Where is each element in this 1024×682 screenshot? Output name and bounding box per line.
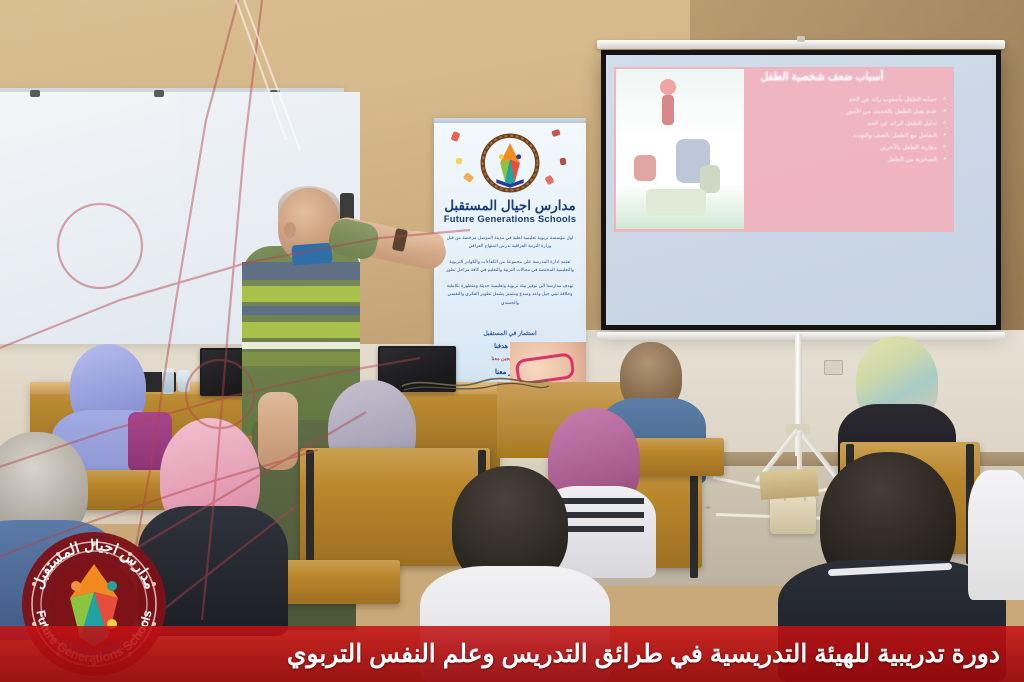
shirt-stripe <box>242 306 360 315</box>
banner-paragraph: تعتمد ادارة المدرسة على مجموعة من الكفاء… <box>442 258 578 275</box>
banner-title-arabic: مدارس اجيال المستقبل <box>434 198 586 214</box>
banner-logo-icon <box>479 132 541 194</box>
screen-frame: أسباب ضعف شخصية الطفل حماية الطفل بأسلوب… <box>601 50 1001 330</box>
presentation-slide: أسباب ضعف شخصية الطفل حماية الطفل بأسلوب… <box>614 67 954 232</box>
banner-title-english: Future Generations Schools <box>434 214 586 225</box>
presenter-pointing-hand <box>405 230 445 258</box>
projection-screen: أسباب ضعف شخصية الطفل حماية الطفل بأسلوب… <box>601 46 1001 336</box>
banner-slogan: استثمار في المستقبل <box>434 330 586 337</box>
presenter-left-arm <box>258 392 298 470</box>
presenter-ear <box>284 222 296 238</box>
shirt-stripe <box>242 286 360 302</box>
cables <box>400 372 550 394</box>
water-bottle <box>162 368 174 394</box>
slide-title: أسباب ضعف شخصية الطفل <box>696 71 948 83</box>
banner-body-text: اول مؤسسة تربوية تعليمية اهلية في مدينة … <box>442 234 578 314</box>
screen-mount-knob <box>797 36 805 42</box>
shirt-stripe <box>242 352 360 366</box>
slide-bullet: تدليل الطفل الزائد عن الحد <box>696 119 946 129</box>
banner-rail <box>434 118 586 123</box>
event-photo-scene: مدارس اجيال المستقبل Future Generations … <box>0 0 1024 682</box>
wall-outlet <box>824 360 843 375</box>
bench-frame <box>690 458 698 578</box>
shirt-stripe <box>242 322 360 338</box>
banner-paragraph: تهدف مدارسنا الى توفير بيئة تربوية وتعلي… <box>442 282 578 307</box>
water-bottle <box>178 370 190 392</box>
shirt-stripe <box>242 342 360 349</box>
floor-bag <box>770 496 816 534</box>
caption-text: دورة تدريبية للهيئة التدريسية في طرائق ا… <box>107 639 1024 669</box>
banner-paragraph: اول مؤسسة تربوية تعليمية اهلية في مدينة … <box>442 234 578 251</box>
rollup-banner: مدارس اجيال المستقبل Future Generations … <box>434 118 586 400</box>
slide-bullet: حماية الطفل بأسلوب زائد عن الحد <box>696 95 946 105</box>
slide-bullet: عدم تقبل الطفل بالحديث من الأمور <box>696 107 946 117</box>
slide-bullet: التعامل مع الطفل بالعنف والتهديد <box>696 131 946 141</box>
presenter-collar <box>291 243 332 266</box>
slide-bullet: مقارنة الطفل بالآخرين <box>696 143 946 153</box>
caption-bar: دورة تدريبية للهيئة التدريسية في طرائق ا… <box>0 626 1024 682</box>
slide-bullet: السخرية من الطفل <box>696 155 946 165</box>
screen-surface: أسباب ضعف شخصية الطفل حماية الطفل بأسلوب… <box>606 55 996 325</box>
slide-bullets: حماية الطفل بأسلوب زائد عن الحد عدم تقبل… <box>696 95 946 167</box>
floor-stool <box>759 468 819 500</box>
